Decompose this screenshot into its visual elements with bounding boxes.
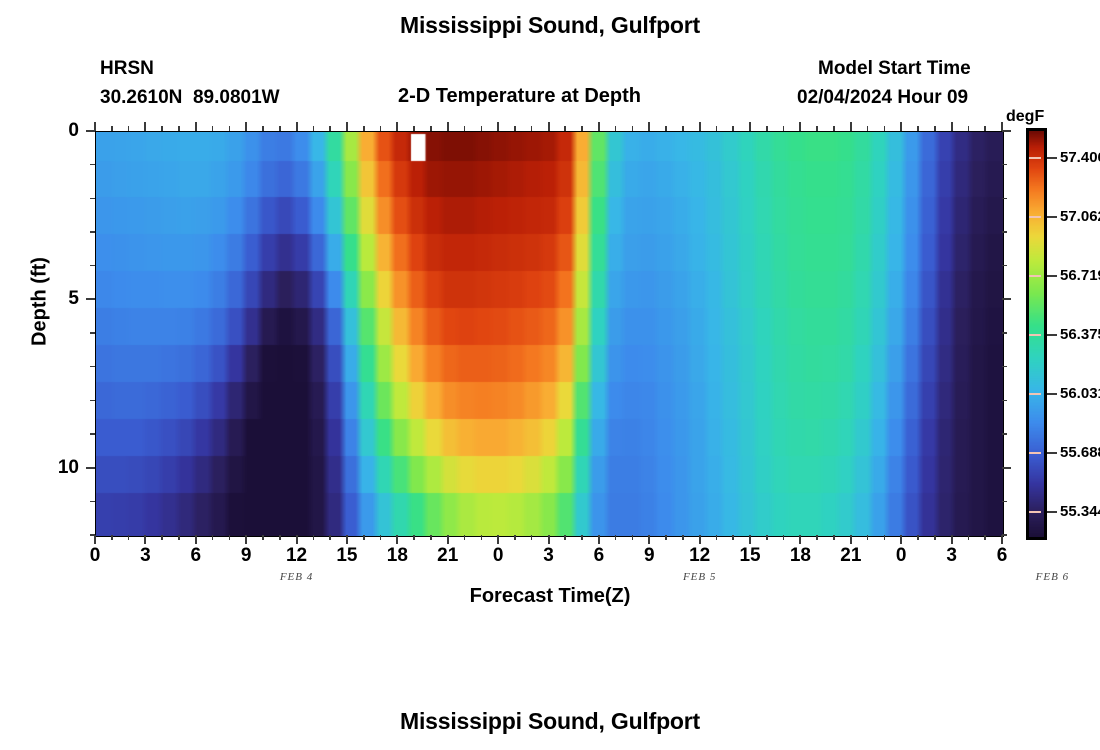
- y-axis-minor-tick: [90, 433, 95, 435]
- y-axis-minor-tick: [1002, 198, 1007, 200]
- colorbar-tick: [1047, 452, 1057, 454]
- colorbar-units-label: degF: [1006, 108, 1086, 126]
- x-axis-tick-label: 3: [529, 545, 569, 567]
- page-title: Mississippi Sound, Gulfport: [0, 12, 1100, 39]
- x-axis-minor-tick: [464, 126, 466, 131]
- x-axis-minor-tick: [531, 535, 533, 540]
- colorbar-tick: [1047, 393, 1057, 395]
- colorbar-tick: [1047, 334, 1057, 336]
- x-axis-minor-tick: [615, 535, 617, 540]
- x-axis-tick: [799, 122, 801, 131]
- x-axis-minor-tick: [161, 535, 163, 540]
- x-axis-minor-tick: [833, 126, 835, 131]
- x-axis-minor-tick: [968, 535, 970, 540]
- colorbar-tick-label: 57.406: [1060, 149, 1100, 166]
- x-axis-tick-label: 3: [932, 545, 972, 567]
- y-axis-minor-tick: [90, 400, 95, 402]
- y-axis-tick: [1002, 130, 1011, 132]
- x-axis-tick: [245, 122, 247, 131]
- x-axis-day-label: FEB 4: [257, 571, 337, 583]
- colorbar-inner-tick: [1029, 334, 1041, 336]
- x-axis-tick: [648, 535, 650, 544]
- y-axis-minor-tick: [1002, 433, 1007, 435]
- x-axis-tick-label: 3: [125, 545, 165, 567]
- x-axis-minor-tick: [783, 535, 785, 540]
- x-axis-minor-tick: [178, 535, 180, 540]
- y-axis-tick: [1002, 298, 1011, 300]
- x-axis-day-label: FEB 5: [660, 571, 740, 583]
- y-axis-minor-tick: [90, 501, 95, 503]
- x-axis-tick-label: 18: [780, 545, 820, 567]
- x-axis-minor-tick: [279, 535, 281, 540]
- x-axis-minor-tick: [430, 535, 432, 540]
- x-axis-minor-tick: [632, 126, 634, 131]
- x-axis-minor-tick: [229, 535, 231, 540]
- x-axis-minor-tick: [884, 126, 886, 131]
- colorbar-tick: [1047, 216, 1057, 218]
- x-axis-minor-tick: [682, 126, 684, 131]
- heatmap-canvas: [96, 132, 1003, 536]
- chart-page: Mississippi Sound, Gulfport HRSN 30.2610…: [0, 0, 1100, 750]
- x-axis-minor-tick: [867, 126, 869, 131]
- y-axis-minor-tick: [1002, 265, 1007, 267]
- x-axis-tick: [548, 122, 550, 131]
- x-axis-tick: [396, 122, 398, 131]
- x-axis-tick: [900, 535, 902, 544]
- x-axis-minor-tick: [766, 126, 768, 131]
- x-axis-minor-tick: [279, 126, 281, 131]
- colorbar-inner-tick: [1029, 275, 1041, 277]
- x-axis-minor-tick: [934, 126, 936, 131]
- x-axis-minor-tick: [481, 535, 483, 540]
- colorbar-tick-label: 55.688: [1060, 444, 1100, 461]
- colorbar-inner-tick: [1029, 157, 1041, 159]
- heatmap-plot-area: [95, 131, 1004, 537]
- colorbar-tick: [1047, 511, 1057, 513]
- x-axis-tick: [144, 122, 146, 131]
- x-axis-minor-tick: [665, 535, 667, 540]
- y-axis-tick-label: 5: [39, 288, 79, 310]
- x-axis-minor-tick: [111, 535, 113, 540]
- x-axis-minor-tick: [111, 126, 113, 131]
- colorbar-inner-tick: [1029, 216, 1041, 218]
- x-axis-tick: [94, 535, 96, 544]
- x-axis-minor-tick: [968, 126, 970, 131]
- x-axis-minor-tick: [481, 126, 483, 131]
- x-axis-tick: [749, 122, 751, 131]
- x-axis-tick-label: 21: [831, 545, 871, 567]
- y-axis-minor-tick: [1002, 400, 1007, 402]
- x-axis-tick: [144, 535, 146, 544]
- x-axis-minor-tick: [716, 535, 718, 540]
- plot-subtitle: 2-D Temperature at Depth: [398, 85, 641, 108]
- colorbar-inner-tick: [1029, 511, 1041, 513]
- y-axis-minor-tick: [90, 164, 95, 166]
- x-axis-tick-label: 0: [478, 545, 518, 567]
- y-axis-tick: [86, 298, 95, 300]
- x-axis-tick: [346, 122, 348, 131]
- y-axis-minor-tick: [1002, 164, 1007, 166]
- x-axis-minor-tick: [564, 535, 566, 540]
- x-axis-tick-label: 0: [75, 545, 115, 567]
- x-axis-minor-tick: [816, 126, 818, 131]
- x-axis-tick: [951, 535, 953, 544]
- x-axis-tick: [951, 122, 953, 131]
- x-axis-tick: [296, 535, 298, 544]
- x-axis-minor-tick: [934, 535, 936, 540]
- footer-title: Mississippi Sound, Gulfport: [0, 708, 1100, 735]
- x-axis-minor-tick: [581, 535, 583, 540]
- x-axis-minor-tick: [380, 535, 382, 540]
- x-axis-tick: [900, 122, 902, 131]
- colorbar-inner-tick: [1029, 393, 1041, 395]
- colorbar-tick-label: 56.375: [1060, 326, 1100, 343]
- x-axis-tick-label: 9: [226, 545, 266, 567]
- y-axis-minor-tick: [90, 534, 95, 536]
- x-axis-tick: [850, 122, 852, 131]
- colorbar-tick-label: 56.031: [1060, 385, 1100, 402]
- x-axis-tick: [749, 535, 751, 544]
- y-axis-minor-tick: [90, 265, 95, 267]
- x-axis-tick: [396, 535, 398, 544]
- x-axis-minor-tick: [581, 126, 583, 131]
- x-axis-minor-tick: [329, 535, 331, 540]
- x-axis-tick-label: 9: [629, 545, 669, 567]
- x-axis-minor-tick: [716, 126, 718, 131]
- x-axis-tick: [296, 122, 298, 131]
- x-axis-tick-label: 12: [680, 545, 720, 567]
- x-axis-minor-tick: [262, 126, 264, 131]
- x-axis-minor-tick: [262, 535, 264, 540]
- x-axis-tick: [850, 535, 852, 544]
- x-axis-tick: [497, 122, 499, 131]
- x-axis-minor-tick: [313, 535, 315, 540]
- colorbar-tick-label: 55.344: [1060, 503, 1100, 520]
- x-axis-minor-tick: [816, 535, 818, 540]
- station-coordinates-label: 30.2610N 89.0801W: [100, 87, 280, 109]
- x-axis-minor-tick: [329, 126, 331, 131]
- x-axis-tick-label: 6: [176, 545, 216, 567]
- x-axis-tick: [548, 535, 550, 544]
- x-axis-tick: [195, 122, 197, 131]
- x-axis-tick: [648, 122, 650, 131]
- x-axis-minor-tick: [682, 535, 684, 540]
- x-axis-tick-label: 6: [982, 545, 1022, 567]
- x-axis-minor-tick: [161, 126, 163, 131]
- x-axis-minor-tick: [665, 126, 667, 131]
- x-axis-tick: [447, 122, 449, 131]
- x-axis-minor-tick: [413, 126, 415, 131]
- x-axis-minor-tick: [363, 535, 365, 540]
- x-axis-tick: [346, 535, 348, 544]
- x-axis-minor-tick: [917, 535, 919, 540]
- x-axis-minor-tick: [732, 126, 734, 131]
- y-axis-tick-label: 10: [39, 457, 79, 479]
- x-axis-tick-label: 0: [881, 545, 921, 567]
- y-axis-minor-tick: [1002, 231, 1007, 233]
- x-axis-tick: [245, 535, 247, 544]
- x-axis-minor-tick: [464, 535, 466, 540]
- x-axis-tick: [447, 535, 449, 544]
- x-axis-minor-tick: [430, 126, 432, 131]
- x-axis-minor-tick: [531, 126, 533, 131]
- x-axis-minor-tick: [313, 126, 315, 131]
- x-axis-minor-tick: [984, 126, 986, 131]
- x-axis-label: Forecast Time(Z): [0, 585, 1100, 608]
- x-axis-day-label: FEB 6: [1012, 571, 1092, 583]
- y-axis-tick: [86, 130, 95, 132]
- y-axis-minor-tick: [90, 332, 95, 334]
- x-axis-minor-tick: [867, 535, 869, 540]
- colorbar-tick: [1047, 275, 1057, 277]
- x-axis-minor-tick: [783, 126, 785, 131]
- x-axis-tick-label: 15: [327, 545, 367, 567]
- y-axis-minor-tick: [1002, 534, 1007, 536]
- y-axis-minor-tick: [90, 366, 95, 368]
- x-axis-minor-tick: [514, 126, 516, 131]
- model-start-time-value: 02/04/2024 Hour 09: [797, 87, 968, 109]
- x-axis-minor-tick: [380, 126, 382, 131]
- x-axis-tick: [195, 535, 197, 544]
- y-axis-minor-tick: [90, 231, 95, 233]
- y-axis-tick: [1002, 467, 1011, 469]
- x-axis-tick: [799, 535, 801, 544]
- x-axis-tick-label: 12: [277, 545, 317, 567]
- x-axis-tick: [598, 122, 600, 131]
- x-axis-tick: [699, 122, 701, 131]
- x-axis-tick: [1001, 535, 1003, 544]
- x-axis-tick: [598, 535, 600, 544]
- x-axis-tick: [497, 535, 499, 544]
- x-axis-minor-tick: [212, 535, 214, 540]
- y-axis-minor-tick: [1002, 366, 1007, 368]
- x-axis-tick-label: 18: [377, 545, 417, 567]
- colorbar-inner-tick: [1029, 452, 1041, 454]
- y-axis-minor-tick: [90, 198, 95, 200]
- x-axis-minor-tick: [917, 126, 919, 131]
- y-axis-tick-label: 0: [39, 120, 79, 142]
- x-axis-minor-tick: [632, 535, 634, 540]
- x-axis-minor-tick: [128, 535, 130, 540]
- model-start-time-label: Model Start Time: [818, 58, 971, 80]
- x-axis-minor-tick: [615, 126, 617, 131]
- x-axis-minor-tick: [766, 535, 768, 540]
- x-axis-minor-tick: [514, 535, 516, 540]
- y-axis-minor-tick: [1002, 501, 1007, 503]
- x-axis-tick-label: 21: [428, 545, 468, 567]
- y-axis-minor-tick: [1002, 332, 1007, 334]
- x-axis-tick-label: 15: [730, 545, 770, 567]
- x-axis-minor-tick: [128, 126, 130, 131]
- x-axis-minor-tick: [984, 535, 986, 540]
- x-axis-tick-label: 6: [579, 545, 619, 567]
- x-axis-minor-tick: [212, 126, 214, 131]
- colorbar-tick-label: 57.062: [1060, 208, 1100, 225]
- x-axis-tick: [699, 535, 701, 544]
- x-axis-minor-tick: [363, 126, 365, 131]
- x-axis-minor-tick: [884, 535, 886, 540]
- x-axis-minor-tick: [564, 126, 566, 131]
- colorbar-tick-label: 56.719: [1060, 267, 1100, 284]
- colorbar-tick: [1047, 157, 1057, 159]
- y-axis-tick: [86, 467, 95, 469]
- x-axis-minor-tick: [178, 126, 180, 131]
- x-axis-minor-tick: [229, 126, 231, 131]
- station-id-label: HRSN: [100, 58, 154, 80]
- x-axis-minor-tick: [413, 535, 415, 540]
- x-axis-minor-tick: [732, 535, 734, 540]
- x-axis-minor-tick: [833, 535, 835, 540]
